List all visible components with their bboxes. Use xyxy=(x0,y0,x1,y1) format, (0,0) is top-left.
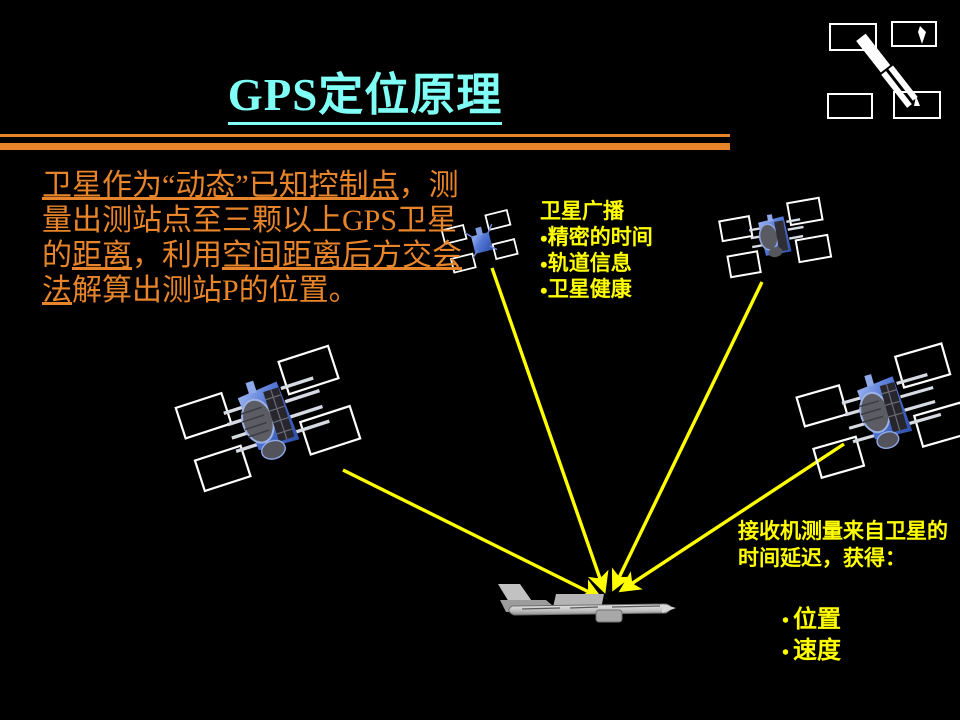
broadcast-item-0-label: 精密的时间 xyxy=(548,225,653,249)
bullet-icon: • xyxy=(782,642,789,664)
body-line3-b: 距离 xyxy=(72,239,132,272)
body-line3-c: ，利用 xyxy=(132,239,222,272)
body-line2-a: 点 xyxy=(369,169,399,202)
body-line5: 的位置。 xyxy=(239,274,359,307)
signal-from-center-satellite xyxy=(492,268,604,590)
broadcast-item-0: •精密的时间 xyxy=(540,224,760,250)
body-line1-c: 已知控制 xyxy=(249,169,369,202)
broadcast-heading: 卫星广播 xyxy=(540,198,760,224)
divider-thick xyxy=(0,143,730,150)
page-title-text: GPS定位原理 xyxy=(228,70,503,125)
broadcast-item-2-label: 卫星健康 xyxy=(548,277,632,301)
body-paragraph: 卫星作为“动态”已知控制点，测量出测站点至三颗以上GPS卫星的距离，利用空间距离… xyxy=(42,168,462,308)
slide-canvas: GPS定位原理 卫星作为“动态”已知控制点，测量出测站点至三颗以上GPS卫星的距… xyxy=(0,0,960,720)
receiver-item-1: •速度 xyxy=(782,636,841,667)
broadcast-block: 卫星广播 •精密的时间 •轨道信息 •卫星健康 xyxy=(540,198,760,302)
bullet-icon: • xyxy=(540,252,548,277)
aircraft-engine xyxy=(596,610,622,622)
receiver-item-0-label: 位置 xyxy=(793,607,841,633)
body-line1-a: 卫星作为 xyxy=(42,169,162,202)
signal-from-left-satellite xyxy=(343,470,599,597)
body-line3-d: 空间 xyxy=(222,239,282,272)
body-line1-b: “动态” xyxy=(162,169,249,202)
receiver-item-0: •位置 xyxy=(782,605,841,636)
broadcast-item-2: •卫星健康 xyxy=(540,276,760,302)
bullet-icon: • xyxy=(782,610,789,632)
receiver-output-list: •位置 •速度 xyxy=(782,605,841,668)
broadcast-item-1: •轨道信息 xyxy=(540,250,760,276)
receiver-item-1-label: 速度 xyxy=(793,638,841,664)
satellite-large-right xyxy=(793,343,960,478)
receiver-block: 接收机测量来自卫星的时间延迟，获得： xyxy=(738,518,953,572)
satellite-large-left xyxy=(172,345,361,491)
space-station-corner xyxy=(828,22,940,118)
divider-thin xyxy=(0,134,730,137)
bullet-icon: • xyxy=(540,226,548,251)
bullet-icon: • xyxy=(540,278,548,303)
body-line4-b: 解算出测站P xyxy=(72,274,239,307)
page-title: GPS定位原理 xyxy=(0,58,730,123)
broadcast-item-1-label: 轨道信息 xyxy=(548,251,632,275)
receiver-paragraph: 接收机测量来自卫星的时间延迟，获得： xyxy=(738,519,948,570)
